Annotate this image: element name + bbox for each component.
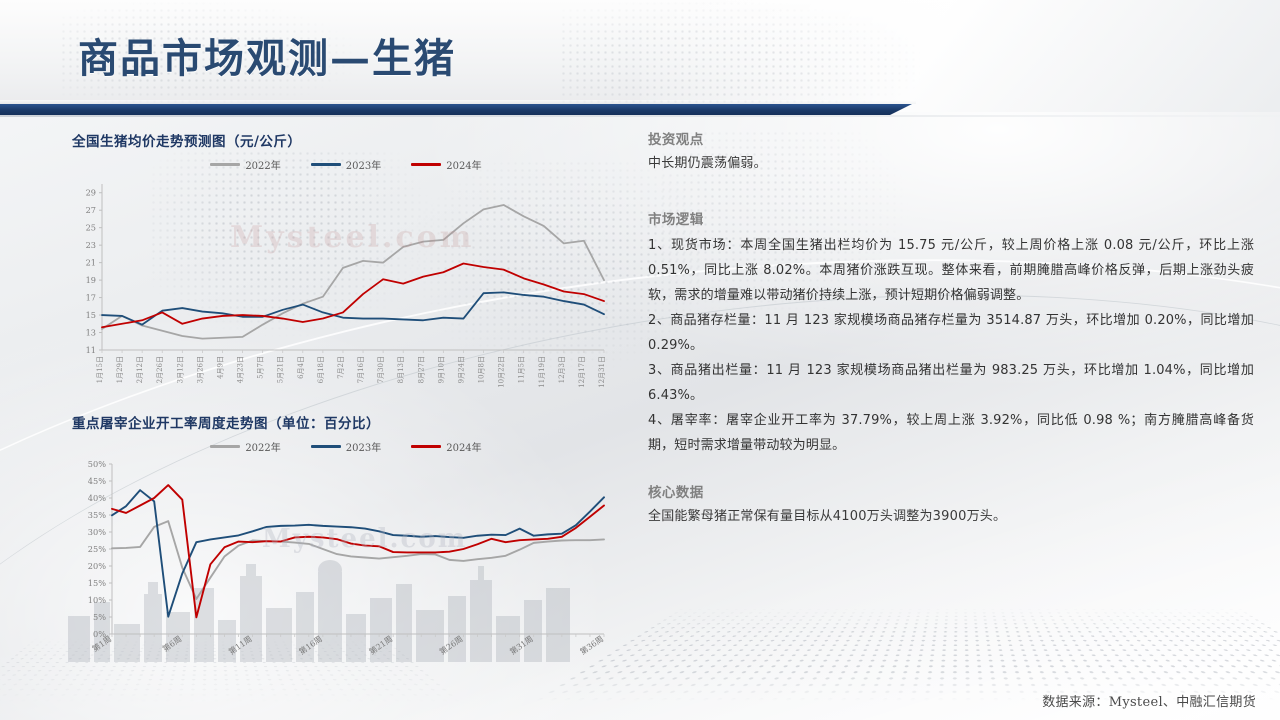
market-logic-paragraph-3: 3、商品猪出栏量：11 月 123 家规模场商品猪出栏量为 983.25 万头，… <box>648 359 1254 409</box>
legend-item-2023: 2023年 <box>311 157 381 172</box>
svg-text:15%: 15% <box>88 578 106 588</box>
chart-price-svg: 11131517192123252729 1月15日1月29日2月12日2月26… <box>72 172 612 404</box>
chart-slaughter-svg: 0%5%10%15%20%25%30%35%40%45%50% 第1周第6周第1… <box>72 454 612 692</box>
commentary-panel: 投资观点 中长期仍震荡偏弱。 市场逻辑 1、现货市场：本周全国生猪出栏均价为 1… <box>648 128 1254 527</box>
svg-text:40%: 40% <box>88 493 106 503</box>
svg-text:35%: 35% <box>88 510 106 520</box>
svg-text:12月17日: 12月17日 <box>578 356 586 388</box>
svg-text:6月18日: 6月18日 <box>317 356 325 383</box>
svg-text:9月10日: 9月10日 <box>437 356 445 383</box>
section-heading-market-logic: 市场逻辑 <box>648 208 1254 228</box>
legend-item-2022: 2022年 <box>210 157 280 172</box>
legend-item-2022-b: 2022年 <box>210 439 280 454</box>
legend-swatch-2024 <box>411 163 441 166</box>
svg-text:19: 19 <box>86 275 96 285</box>
slide-header: 商品市场观测—生猪 <box>0 0 1280 112</box>
svg-text:10月8日: 10月8日 <box>478 356 486 383</box>
legend-label-2022-b: 2022年 <box>245 439 280 454</box>
page-title: 商品市场观测—生猪 <box>78 26 456 84</box>
market-logic-paragraph-1: 1、现货市场：本周全国生猪出栏均价为 15.75 元/公斤，较上周价格上涨 0.… <box>648 234 1254 309</box>
header-accent-bar <box>0 104 912 115</box>
svg-text:2月12日: 2月12日 <box>136 356 144 383</box>
svg-text:3月12日: 3月12日 <box>176 356 184 383</box>
chart-price-trend: 全国生猪均价走势预测图（元/公斤） 2022年 2023年 2024年 1113… <box>72 130 620 404</box>
section-core-data: 核心数据 全国能繁母猪正常保有量目标从4100万头调整为3900万头。 <box>648 481 1254 527</box>
svg-text:20%: 20% <box>88 561 106 571</box>
legend-item-2024-b: 2024年 <box>411 439 481 454</box>
section-text-core-data: 全国能繁母猪正常保有量目标从4100万头调整为3900万头。 <box>648 507 1254 527</box>
svg-text:5月7日: 5月7日 <box>257 356 265 379</box>
section-market-logic: 市场逻辑 1、现货市场：本周全国生猪出栏均价为 15.75 元/公斤，较上周价格… <box>648 208 1254 459</box>
section-heading-investment-view: 投资观点 <box>648 128 1254 148</box>
svg-text:第31周: 第31周 <box>508 633 535 656</box>
chart-slaughter-title: 重点屠宰企业开工率周度走势图（单位：百分比） <box>72 412 620 432</box>
slide-canvas: 商品市场观测—生猪 全国生猪均价走势预测图（元/公斤） 2022年 2023年 … <box>0 0 1280 720</box>
chart-price-title: 全国生猪均价走势预测图（元/公斤） <box>72 130 620 150</box>
svg-text:25: 25 <box>86 223 96 233</box>
svg-text:13: 13 <box>86 328 96 338</box>
svg-text:15: 15 <box>86 310 96 320</box>
legend-label-2024-b: 2024年 <box>446 439 481 454</box>
header-gloss <box>640 0 1280 112</box>
svg-text:12月31日: 12月31日 <box>598 356 606 388</box>
svg-text:23: 23 <box>86 240 96 250</box>
legend-label-2024: 2024年 <box>446 157 481 172</box>
legend-label-2023-b: 2023年 <box>346 439 381 454</box>
chart-slaughter-legend: 2022年 2023年 2024年 <box>72 439 620 454</box>
svg-text:17: 17 <box>86 293 96 303</box>
legend-swatch-2024-b <box>411 445 441 448</box>
svg-text:11月5日: 11月5日 <box>518 356 526 383</box>
svg-text:21: 21 <box>86 258 96 268</box>
header-divider <box>0 115 1280 117</box>
data-source-footer: 数据来源：Mysteel、中融汇信期货 <box>1042 691 1256 710</box>
svg-text:第16周: 第16周 <box>297 633 324 656</box>
header-bar-highlight <box>0 100 916 104</box>
spacer-2 <box>648 459 1254 481</box>
legend-swatch-2022 <box>210 163 240 166</box>
legend-swatch-2023 <box>311 163 341 166</box>
svg-text:6月4日: 6月4日 <box>297 356 305 379</box>
market-logic-paragraph-4: 4、屠宰率：屠宰企业开工率为 37.79%，较上周上涨 3.92%，同比低 0.… <box>648 409 1254 459</box>
svg-text:1月15日: 1月15日 <box>96 356 104 383</box>
svg-text:3月26日: 3月26日 <box>196 356 204 383</box>
svg-text:5月21日: 5月21日 <box>277 356 285 383</box>
svg-text:11: 11 <box>86 345 96 355</box>
chart-slaughter-series-group <box>112 485 604 617</box>
chart-price-y-axis: 11131517192123252729 <box>86 184 102 355</box>
chart-price-legend: 2022年 2023年 2024年 <box>72 157 620 172</box>
legend-swatch-2023-b <box>311 445 341 448</box>
svg-text:4月23日: 4月23日 <box>237 356 245 383</box>
chart-price-plot-area: 11131517192123252729 1月15日1月29日2月12日2月26… <box>72 172 620 404</box>
svg-text:11月19日: 11月19日 <box>538 356 546 388</box>
legend-item-2024: 2024年 <box>411 157 481 172</box>
svg-text:50%: 50% <box>88 459 106 469</box>
chart-slaughter-y-axis: 0%5%10%15%20%25%30%35%40%45%50% <box>88 459 112 639</box>
svg-text:4月9日: 4月9日 <box>216 356 224 379</box>
svg-text:第26周: 第26周 <box>437 633 464 656</box>
section-text-investment-view: 中长期仍震荡偏弱。 <box>648 154 1254 174</box>
market-logic-paragraph-2: 2、商品猪存栏量：11 月 123 家规模场商品猪存栏量为 3514.87 万头… <box>648 309 1254 359</box>
svg-text:10%: 10% <box>88 595 106 605</box>
chart-slaughter-x-axis: 第1周第6周第11周第16周第21周第26周第31周第36周第41周第46周第5… <box>90 633 612 656</box>
spacer-1 <box>648 174 1254 208</box>
svg-text:30%: 30% <box>88 527 106 537</box>
svg-text:第11周: 第11周 <box>227 633 254 656</box>
chart-price-x-axis: 1月15日1月29日2月12日2月26日3月12日3月26日4月9日4月23日5… <box>96 350 606 388</box>
svg-text:5%: 5% <box>93 612 106 622</box>
svg-text:8月13日: 8月13日 <box>397 356 405 383</box>
svg-text:9月24日: 9月24日 <box>457 356 465 383</box>
svg-text:12月3日: 12月3日 <box>558 356 566 383</box>
chart-slaughter-rate: 重点屠宰企业开工率周度走势图（单位：百分比） 2022年 2023年 2024年… <box>72 412 620 692</box>
legend-swatch-2022-b <box>210 445 240 448</box>
svg-text:7月2日: 7月2日 <box>337 356 345 379</box>
svg-text:第36周: 第36周 <box>578 633 605 656</box>
svg-text:2月26日: 2月26日 <box>156 356 164 383</box>
svg-text:25%: 25% <box>88 544 106 554</box>
legend-item-2023-b: 2023年 <box>311 439 381 454</box>
svg-text:27: 27 <box>86 205 96 215</box>
chart-price-series-group <box>102 205 604 339</box>
section-heading-core-data: 核心数据 <box>648 481 1254 501</box>
halftone-dots-bottom-right <box>529 608 1280 702</box>
svg-text:29: 29 <box>86 188 96 198</box>
svg-text:10月22日: 10月22日 <box>498 356 506 388</box>
svg-text:45%: 45% <box>88 476 106 486</box>
svg-text:7月16日: 7月16日 <box>357 356 365 383</box>
svg-text:7月30日: 7月30日 <box>377 356 385 383</box>
svg-text:第6周: 第6周 <box>160 633 183 653</box>
svg-text:第21周: 第21周 <box>367 633 394 656</box>
legend-label-2023: 2023年 <box>346 157 381 172</box>
svg-text:1月29日: 1月29日 <box>116 356 124 383</box>
chart-slaughter-plot-area: 0%5%10%15%20%25%30%35%40%45%50% 第1周第6周第1… <box>72 454 620 692</box>
legend-label-2022: 2022年 <box>245 157 280 172</box>
section-investment-view: 投资观点 中长期仍震荡偏弱。 <box>648 128 1254 174</box>
svg-text:8月27日: 8月27日 <box>417 356 425 383</box>
